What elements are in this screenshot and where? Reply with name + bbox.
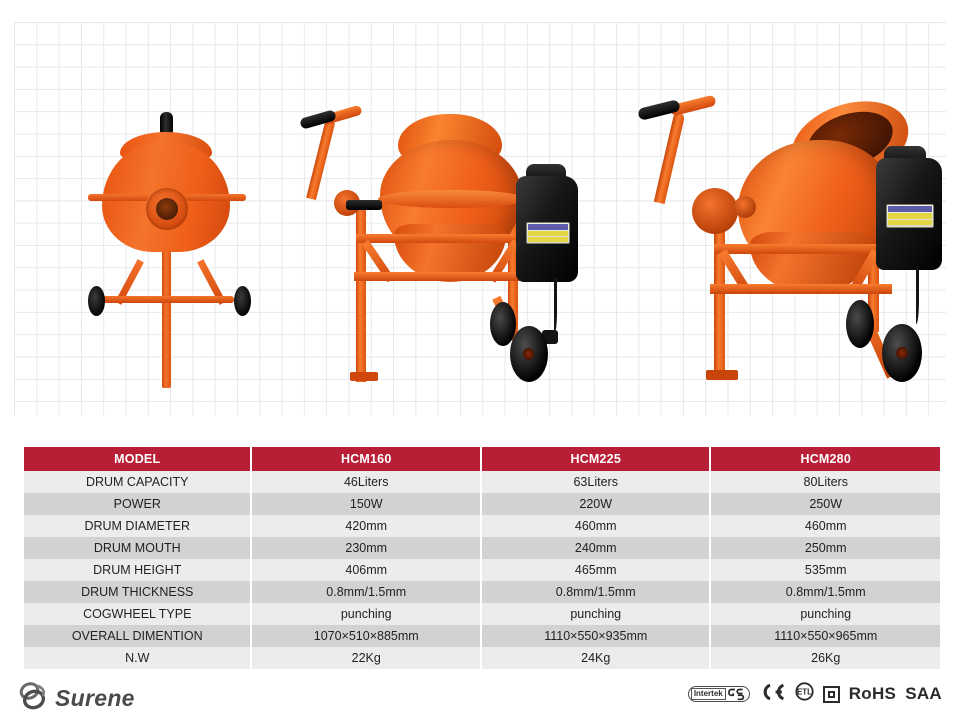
class-two-mark-icon — [823, 686, 840, 703]
header-cell-hcm280: HCM280 — [710, 447, 940, 471]
row-label: DRUM HEIGHT — [24, 559, 251, 581]
table-row: DRUM DIAMETER 420mm 460mm 460mm — [24, 515, 940, 537]
table-row: DRUM HEIGHT 406mm 465mm 535mm — [24, 559, 940, 581]
cement-mixer-side-photo — [294, 104, 590, 384]
table-row: OVERALL DIMENTION 1070×510×885mm 1110×55… — [24, 625, 940, 647]
row-value: 0.8mm/1.5mm — [481, 581, 711, 603]
mixer3-frame-top-bar — [714, 244, 888, 254]
mixer1-handle-grip-icon — [160, 112, 173, 134]
mixer2-frame-mid-bar — [354, 272, 526, 281]
mixer3-power-cord — [912, 266, 919, 324]
row-label: COGWHEEL TYPE — [24, 603, 251, 625]
brand-block: Surene — [18, 682, 135, 715]
row-value: 250mm — [710, 537, 940, 559]
row-value: 1110×550×935mm — [481, 625, 711, 647]
row-value: 1070×510×885mm — [251, 625, 481, 647]
table-row: DRUM THICKNESS 0.8mm/1.5mm 0.8mm/1.5mm 0… — [24, 581, 940, 603]
ce-mark-icon — [759, 683, 786, 706]
row-value: 406mm — [251, 559, 481, 581]
mixer2-handle-arm — [306, 118, 336, 200]
table-row: POWER 150W 220W 250W — [24, 493, 940, 515]
row-value: 240mm — [481, 537, 711, 559]
table-row: DRUM CAPACITY 46Liters 63Liters 80Liters — [24, 471, 940, 493]
intertek-gs-badge-icon: Intertek — [688, 686, 750, 702]
row-value: 0.8mm/1.5mm — [710, 581, 940, 603]
mixer1-wheel-left — [88, 286, 105, 316]
row-value: 465mm — [481, 559, 711, 581]
row-label: DRUM THICKNESS — [24, 581, 251, 603]
row-value: 80Liters — [710, 471, 940, 493]
row-value: 22Kg — [251, 647, 481, 669]
row-label: DRUM CAPACITY — [24, 471, 251, 493]
mixer2-leg-left — [356, 204, 366, 382]
mixer1-wheel-right — [234, 286, 251, 316]
etl-mark-icon: ETL — [795, 682, 814, 706]
row-value: 0.8mm/1.5mm — [251, 581, 481, 603]
mixer2-warning-label — [526, 222, 570, 244]
mixer3-tilt-hub-inner — [734, 196, 756, 218]
product-photo-panel — [14, 22, 946, 415]
row-value: 46Liters — [251, 471, 481, 493]
row-value: 460mm — [710, 515, 940, 537]
mixer1-hub-inner — [156, 198, 178, 220]
gs-mark-icon — [728, 688, 745, 701]
row-value: punching — [251, 603, 481, 625]
mixer2-wheel-front — [510, 326, 548, 382]
row-label: DRUM MOUTH — [24, 537, 251, 559]
surene-swirl-logo-icon — [18, 682, 48, 715]
header-cell-hcm225: HCM225 — [481, 447, 711, 471]
row-label: N.W — [24, 647, 251, 669]
mixer2-drum-ring — [378, 190, 526, 208]
mixer3-tilt-hub — [692, 188, 738, 234]
row-value: 1110×550×965mm — [710, 625, 940, 647]
mixer2-frame-top-bar — [356, 234, 524, 243]
row-label: POWER — [24, 493, 251, 515]
mixer3-handle-arm — [654, 112, 685, 204]
svg-text:ETL: ETL — [797, 688, 812, 697]
row-value: 220W — [481, 493, 711, 515]
mixer1-arm-right — [186, 194, 246, 201]
row-value: 26Kg — [710, 647, 940, 669]
mixer3-frame-mid-bar — [710, 284, 892, 294]
row-value: 460mm — [481, 515, 711, 537]
mixer1-axle — [98, 296, 234, 303]
row-value: 150W — [251, 493, 481, 515]
page-footer: Surene Intertek ETL RoHS SAA — [0, 680, 960, 720]
specification-table: MODEL HCM160 HCM225 HCM280 DRUM CAPACITY… — [24, 447, 940, 669]
brand-name: Surene — [55, 685, 135, 712]
mixer3-warning-label — [886, 204, 934, 228]
table-header-row: MODEL HCM160 HCM225 HCM280 — [24, 447, 940, 471]
mixer1-arm-left — [88, 194, 148, 201]
saa-mark: SAA — [905, 684, 942, 704]
rohs-mark: RoHS — [849, 684, 896, 704]
mixer3-wheel-front — [882, 324, 922, 382]
mixer3-wheel-rear — [846, 300, 874, 348]
row-value: 250W — [710, 493, 940, 515]
mixer2-tilt-lever — [346, 200, 382, 210]
cement-mixer-front-photo — [74, 118, 274, 388]
header-cell-model: MODEL — [24, 447, 251, 471]
header-cell-hcm160: HCM160 — [251, 447, 481, 471]
mixer3-foot-left — [706, 370, 738, 380]
table-row: DRUM MOUTH 230mm 240mm 250mm — [24, 537, 940, 559]
intertek-label: Intertek — [691, 688, 726, 700]
table-row: COGWHEEL TYPE punching punching punching — [24, 603, 940, 625]
row-value: 230mm — [251, 537, 481, 559]
row-value: 63Liters — [481, 471, 711, 493]
mixer2-power-cord — [550, 278, 557, 334]
table-body: DRUM CAPACITY 46Liters 63Liters 80Liters… — [24, 471, 940, 669]
row-value: 24Kg — [481, 647, 711, 669]
mixer2-foot-left — [350, 372, 378, 381]
certification-marks: Intertek ETL RoHS SAA — [688, 682, 942, 706]
row-value: punching — [710, 603, 940, 625]
row-label: OVERALL DIMENTION — [24, 625, 251, 647]
row-value: 420mm — [251, 515, 481, 537]
cement-mixer-angled-photo — [634, 92, 946, 384]
row-label: DRUM DIAMETER — [24, 515, 251, 537]
table-row: N.W 22Kg 24Kg 26Kg — [24, 647, 940, 669]
row-value: punching — [481, 603, 711, 625]
row-value: 535mm — [710, 559, 940, 581]
